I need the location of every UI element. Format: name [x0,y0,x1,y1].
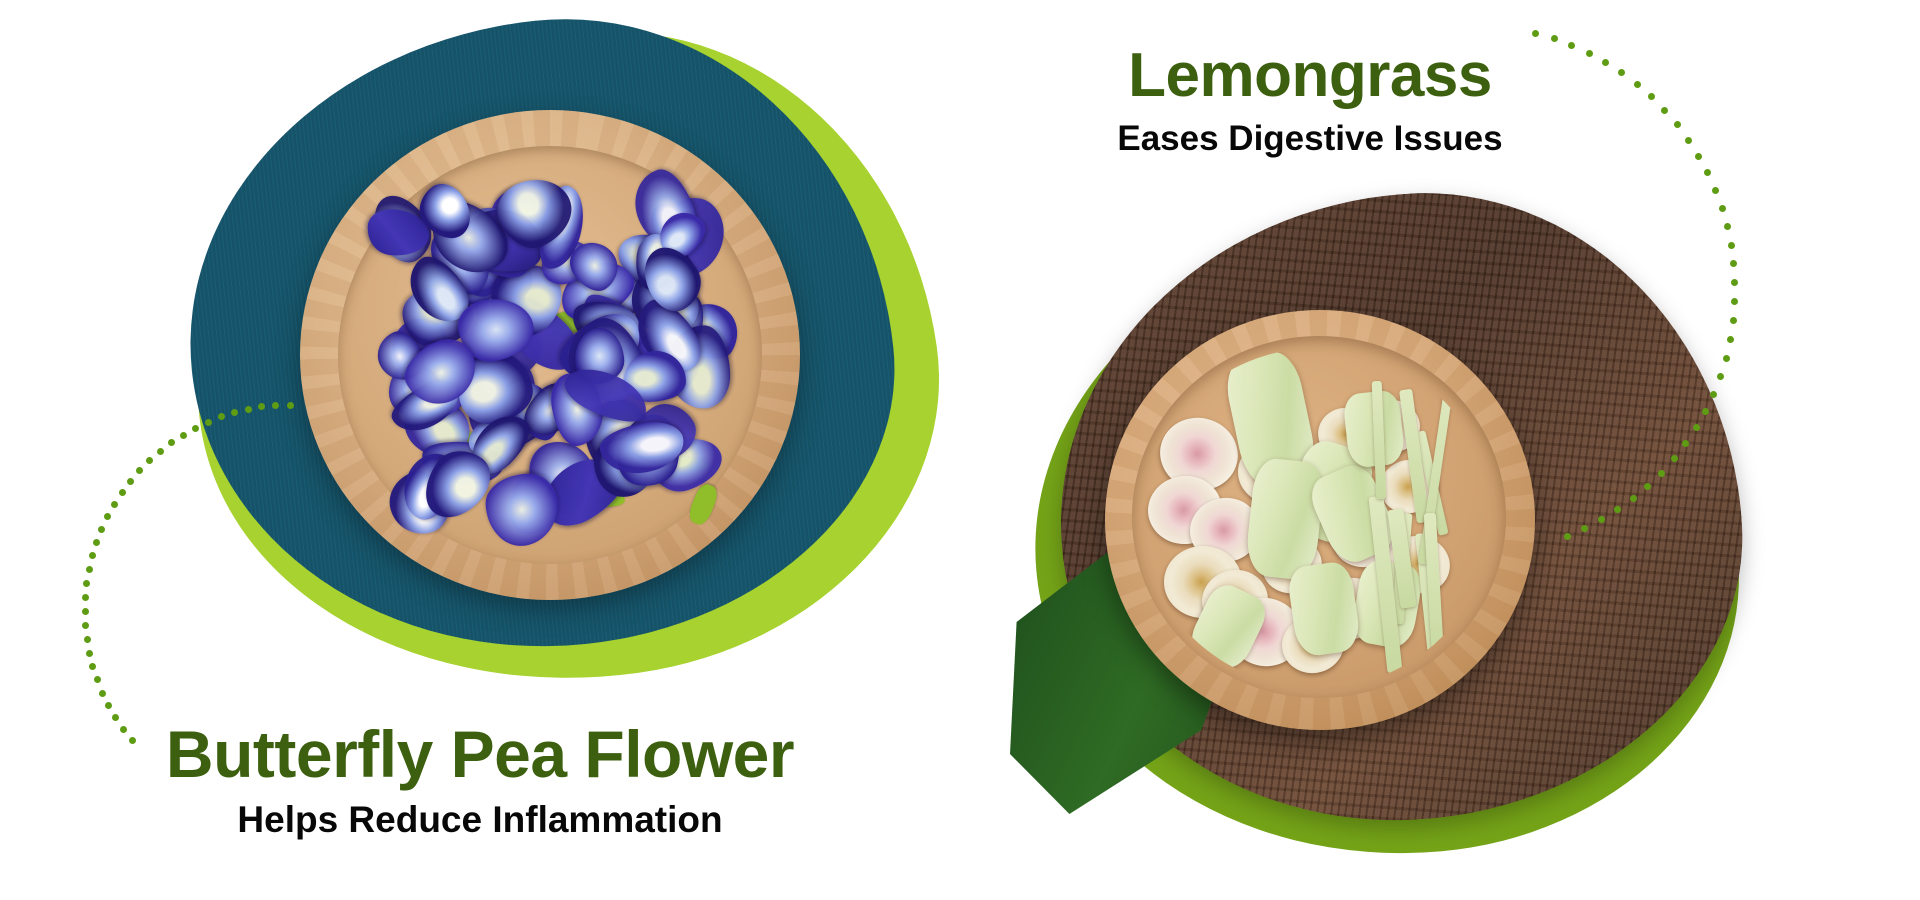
arc-dot [82,608,89,615]
card-title-butterfly-pea-flower: Butterfly Pea Flower [0,716,960,792]
arc-dot [157,448,164,455]
arc-dot [89,552,96,559]
arc-dot [180,432,187,439]
arc-dot [98,526,105,533]
card-subtitle-lemongrass: Eases Digestive Issues [960,118,1660,160]
arc-dot [86,650,93,657]
butterfly-pea-flower-pile [350,160,750,550]
arc-dot [119,489,126,496]
infographic-canvas: Butterfly Pea Flower Helps Reduce Inflam… [0,0,1920,900]
arc-dot [83,580,90,587]
arc-dot [111,501,118,508]
arc-dot [86,566,93,573]
arc-dot [136,467,143,474]
arc-dot [82,594,89,601]
arc-dot [89,663,96,670]
arc-dot [84,636,91,643]
arc-dot [99,690,106,697]
lemongrass-pieces [1142,348,1492,688]
arc-dot [168,439,175,446]
arc-dot [127,478,134,485]
arc-dot [105,702,112,709]
card-subtitle-butterfly-pea-flower: Helps Reduce Inflammation [0,798,960,842]
arc-dot [93,539,100,546]
arc-dot [192,425,199,432]
card-butterfly-pea-flower: Butterfly Pea Flower Helps Reduce Inflam… [0,0,960,900]
arc-dot [104,513,111,520]
butterfly-pea-petal [485,473,559,547]
arc-dot [94,676,101,683]
arc-dot [146,457,153,464]
card-title-lemongrass: Lemongrass [960,40,1660,112]
arc-dot [82,622,89,629]
